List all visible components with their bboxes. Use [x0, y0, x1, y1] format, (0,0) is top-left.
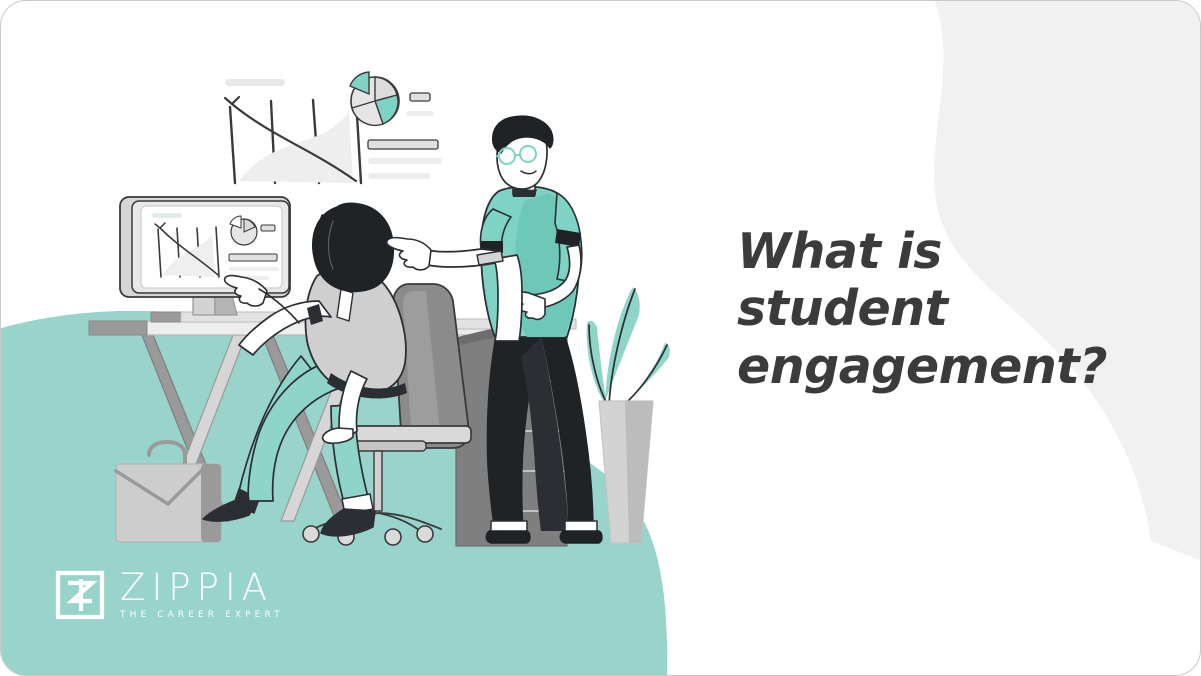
logo-wordmark: ZIPPIA	[120, 569, 284, 606]
floating-pie-chart	[350, 72, 442, 179]
zippia-logo[interactable]: ZIPPIA THE CAREER EXPERT	[55, 569, 284, 620]
promo-card: What is student engagement? ZIPPIA THE C…	[0, 0, 1201, 676]
page-title: What is student engagement?	[737, 223, 1167, 395]
logo-tagline: THE CAREER EXPERT	[120, 610, 284, 620]
logo-text-block: ZIPPIA THE CAREER EXPERT	[120, 569, 284, 620]
potted-plant	[587, 287, 670, 543]
floating-line-chart	[225, 79, 361, 183]
zippia-z-mark-icon	[55, 570, 105, 620]
briefcase	[116, 442, 221, 542]
